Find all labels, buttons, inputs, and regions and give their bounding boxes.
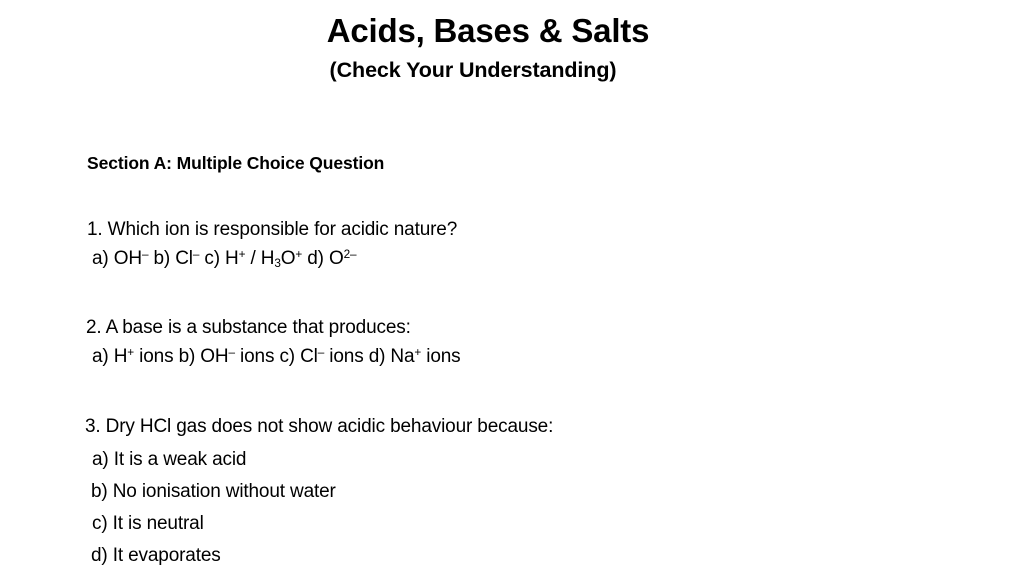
page-subtitle: (Check Your Understanding) — [0, 57, 946, 83]
question-3-option-d[interactable]: d) It evaporates — [91, 543, 221, 569]
question-2-option-d[interactable]: d) Na+ ions — [369, 346, 461, 367]
question-2-stem: 2. A base is a substance that produces: — [86, 315, 411, 341]
question-2-option-c[interactable]: c) Cl– ions — [279, 346, 363, 367]
question-1-stem: 1. Which ion is responsible for acidic n… — [87, 217, 457, 243]
question-3-option-c[interactable]: c) It is neutral — [92, 511, 204, 537]
question-2-option-a[interactable]: a) H+ ions — [92, 346, 173, 367]
question-3-stem: 3. Dry HCl gas does not show acidic beha… — [85, 414, 553, 440]
question-1-option-a[interactable]: a) OH– — [92, 248, 148, 269]
question-1-option-d[interactable]: d) O2– — [307, 248, 356, 269]
page-title: Acids, Bases & Salts — [0, 12, 976, 50]
question-3-option-a[interactable]: a) It is a weak acid — [92, 447, 246, 473]
section-a-heading: Section A: Multiple Choice Question — [87, 152, 384, 174]
question-1-option-b[interactable]: b) Cl– — [153, 248, 199, 269]
worksheet-page: Acids, Bases & Salts (Check Your Underst… — [0, 0, 1018, 574]
question-2-option-b[interactable]: b) OH– ions — [179, 346, 275, 367]
question-2-options: a) H+ ions b) OH– ions c) Cl– ions d) Na… — [92, 344, 461, 370]
question-1-options: a) OH– b) Cl– c) H+ / H3O+ d) O2– — [92, 246, 356, 272]
question-1-option-c[interactable]: c) H+ / H3O+ — [204, 248, 302, 269]
question-3-option-b[interactable]: b) No ionisation without water — [91, 479, 336, 505]
